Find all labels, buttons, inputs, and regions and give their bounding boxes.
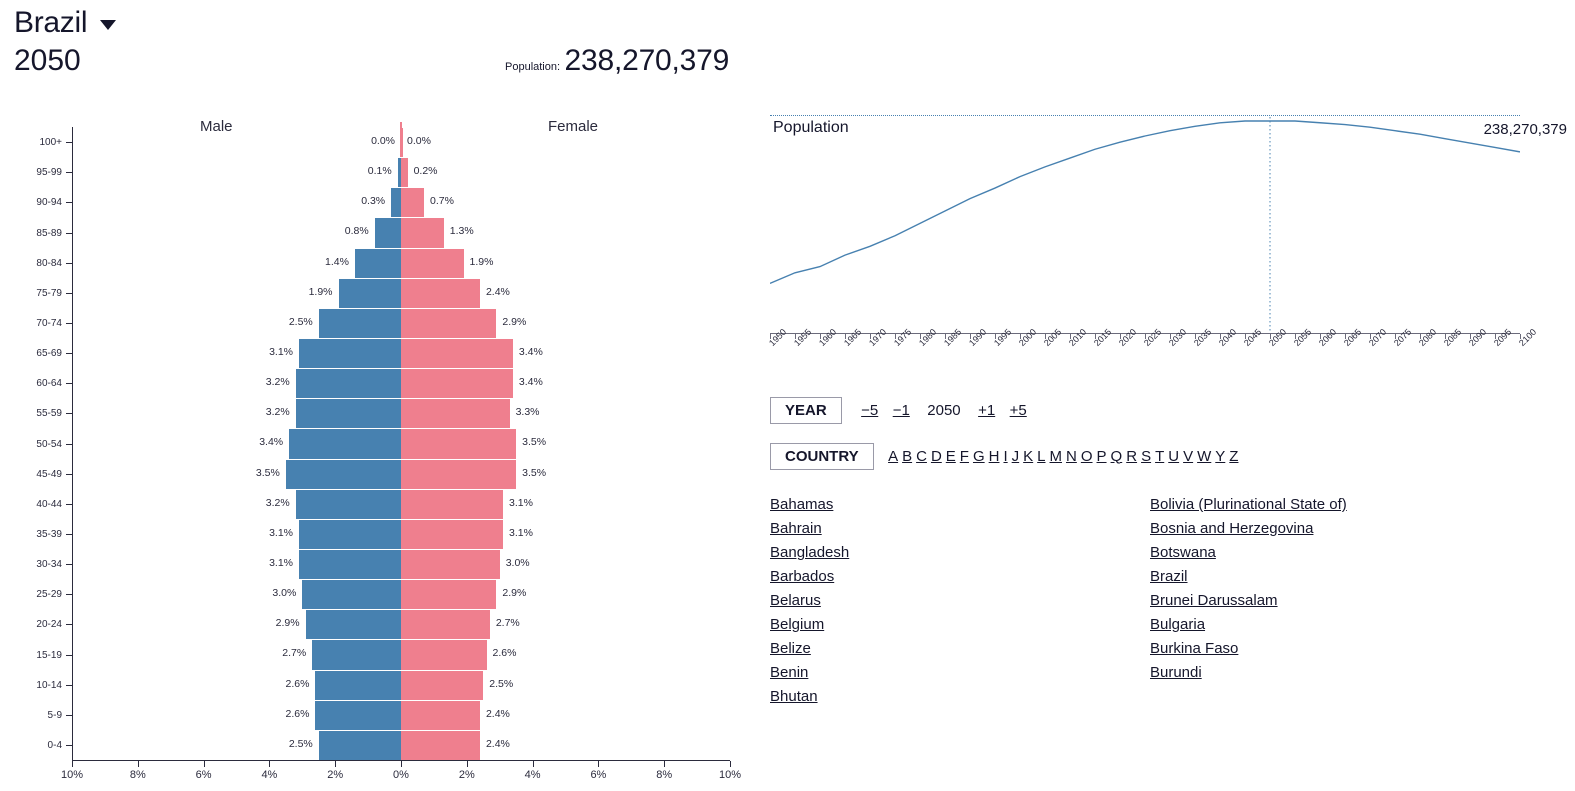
alphabet-link-z[interactable]: Z bbox=[1229, 448, 1238, 465]
country-title[interactable]: Brazil bbox=[14, 6, 87, 40]
country-link[interactable]: Bosnia and Herzegovina bbox=[1150, 517, 1530, 541]
pyramid-bar-female[interactable] bbox=[401, 700, 480, 730]
controls: YEAR −5 −1 2050 +1 +5 COUNTRY ABCDEFGHIJ… bbox=[770, 397, 1570, 489]
country-link[interactable]: Belgium bbox=[770, 613, 1150, 637]
pyramid-bar-male[interactable] bbox=[286, 459, 401, 489]
alphabet-link-c[interactable]: C bbox=[916, 448, 927, 465]
country-link[interactable]: Bulgaria bbox=[1150, 613, 1530, 637]
alphabet-link-k[interactable]: K bbox=[1023, 448, 1033, 465]
pyramid-female-value: 3.4% bbox=[519, 346, 543, 358]
pyramid-x-tick bbox=[401, 761, 402, 767]
alphabet-link-u[interactable]: U bbox=[1168, 448, 1179, 465]
pyramid-bar-female[interactable] bbox=[401, 308, 496, 338]
pyramid-female-value: 3.0% bbox=[506, 557, 530, 569]
alphabet-link-i[interactable]: I bbox=[1003, 448, 1007, 465]
pyramid-female-value: 0.0% bbox=[407, 135, 431, 147]
year-plus-1-link[interactable]: +1 bbox=[978, 402, 995, 419]
alphabet-link-f[interactable]: F bbox=[960, 448, 969, 465]
country-link[interactable]: Benin bbox=[770, 661, 1150, 685]
year-minus-5-link[interactable]: −5 bbox=[861, 402, 878, 419]
pyramid-age-label: 60-64 bbox=[0, 378, 62, 389]
pyramid-bar-male[interactable] bbox=[302, 579, 401, 609]
pyramid-bar-female[interactable] bbox=[401, 278, 480, 308]
pyramid-bar-male[interactable] bbox=[296, 368, 401, 398]
alphabet-link-v[interactable]: V bbox=[1183, 448, 1193, 465]
year-title: 2050 bbox=[14, 44, 81, 78]
pyramid-female-value: 1.9% bbox=[470, 256, 494, 268]
pyramid-male-value: 3.0% bbox=[272, 587, 296, 599]
pyramid-male-value: 2.7% bbox=[282, 647, 306, 659]
pyramid-x-tick bbox=[533, 761, 534, 767]
pyramid-row: 3.4%3.5% bbox=[72, 428, 730, 458]
alphabet-link-l[interactable]: L bbox=[1037, 448, 1045, 465]
alphabet-link-a[interactable]: A bbox=[888, 448, 898, 465]
alphabet-link-j[interactable]: J bbox=[1012, 448, 1020, 465]
pyramid-bar-female[interactable] bbox=[401, 639, 487, 669]
page-header: Brazil 2050 Population: 238,270,379 bbox=[0, 0, 1575, 105]
pyramid-male-value: 1.4% bbox=[325, 256, 349, 268]
country-link[interactable]: Bolivia (Plurinational State of) bbox=[1150, 493, 1530, 517]
pyramid-age-label: 50-54 bbox=[0, 439, 62, 450]
alphabet-link-g[interactable]: G bbox=[973, 448, 985, 465]
country-link[interactable]: Burkina Faso bbox=[1150, 637, 1530, 661]
country-link[interactable]: Bhutan bbox=[770, 685, 1150, 709]
pyramid-male-value: 1.9% bbox=[309, 286, 333, 298]
country-link[interactable]: Bahrain bbox=[770, 517, 1150, 541]
pyramid-female-value: 3.1% bbox=[509, 497, 533, 509]
pyramid-female-value: 3.5% bbox=[522, 436, 546, 448]
pyramid-male-value: 2.9% bbox=[276, 617, 300, 629]
pyramid-x-tick bbox=[730, 761, 731, 767]
pyramid-female-value: 3.3% bbox=[516, 406, 540, 418]
pyramid-male-value: 3.2% bbox=[266, 406, 290, 418]
pyramid-female-value: 2.4% bbox=[486, 738, 510, 750]
country-link[interactable]: Belarus bbox=[770, 589, 1150, 613]
pyramid-bar-male[interactable] bbox=[339, 278, 402, 308]
pyramid-age-label: 15-19 bbox=[0, 650, 62, 661]
pyramid-row: 3.5%3.5% bbox=[72, 459, 730, 489]
pyramid-age-label: 90-94 bbox=[0, 197, 62, 208]
pyramid-male-value: 2.5% bbox=[289, 738, 313, 750]
alphabet-links: ABCDEFGHIJKLMNOPQRSTUVWYZ bbox=[888, 448, 1242, 466]
pyramid-male-value: 3.2% bbox=[266, 497, 290, 509]
pyramid-x-tick bbox=[204, 761, 205, 767]
pyramid-bar-male[interactable] bbox=[296, 398, 401, 428]
pyramid-female-value: 3.1% bbox=[509, 527, 533, 539]
pyramid-age-label: 5-9 bbox=[0, 710, 62, 721]
pyramid-bar-male[interactable] bbox=[375, 217, 401, 247]
population-pyramid-chart: Male Female 0-45-910-1415-1920-2425-2930… bbox=[0, 105, 770, 791]
pyramid-bar-male[interactable] bbox=[299, 549, 401, 579]
alphabet-link-y[interactable]: Y bbox=[1215, 448, 1225, 465]
pyramid-x-label: 8% bbox=[644, 769, 684, 781]
pyramid-female-value: 0.2% bbox=[414, 165, 438, 177]
pyramid-bar-male[interactable] bbox=[296, 489, 401, 519]
pyramid-row: 2.6%2.4% bbox=[72, 700, 730, 730]
alphabet-link-t[interactable]: T bbox=[1155, 448, 1164, 465]
population-value: 238,270,379 bbox=[565, 44, 730, 77]
pyramid-male-value: 2.5% bbox=[289, 316, 313, 328]
alphabet-link-e[interactable]: E bbox=[946, 448, 956, 465]
pyramid-x-label: 2% bbox=[315, 769, 355, 781]
pyramid-female-value: 2.9% bbox=[502, 587, 526, 599]
pyramid-age-label: 10-14 bbox=[0, 680, 62, 691]
country-link[interactable]: Burundi bbox=[1150, 661, 1530, 685]
pyramid-age-label: 35-39 bbox=[0, 529, 62, 540]
pyramid-row: 2.5%2.9% bbox=[72, 308, 730, 338]
pyramid-row: 1.4%1.9% bbox=[72, 248, 730, 278]
line-chart-value-label: 238,270,379 bbox=[1484, 121, 1567, 138]
pyramid-x-label: 4% bbox=[249, 769, 289, 781]
pyramid-bar-female[interactable] bbox=[401, 459, 516, 489]
pyramid-age-label: 0-4 bbox=[0, 740, 62, 751]
pyramid-bar-male[interactable] bbox=[319, 730, 401, 760]
pyramid-bar-female[interactable] bbox=[401, 368, 513, 398]
pyramid-bar-female[interactable] bbox=[401, 187, 424, 217]
pyramid-female-value: 1.3% bbox=[450, 225, 474, 237]
pyramid-x-label: 6% bbox=[184, 769, 224, 781]
country-list-column-1: BahamasBahrainBangladeshBarbadosBelarusB… bbox=[770, 493, 1150, 709]
pyramid-bar-male[interactable] bbox=[355, 248, 401, 278]
pyramid-row: 2.6%2.5% bbox=[72, 670, 730, 700]
pyramid-male-value: 3.4% bbox=[259, 436, 283, 448]
line-chart-title: Population bbox=[773, 119, 849, 137]
pyramid-age-label: 20-24 bbox=[0, 619, 62, 630]
pyramid-x-tick bbox=[72, 761, 73, 767]
pyramid-row: 0.3%0.7% bbox=[72, 187, 730, 217]
population-line-svg bbox=[770, 115, 1520, 333]
pyramid-x-label: 10% bbox=[52, 769, 92, 781]
country-list: BahamasBahrainBangladeshBarbadosBelarusB… bbox=[770, 493, 1570, 709]
pyramid-bar-female[interactable] bbox=[401, 489, 503, 519]
pyramid-male-value: 0.8% bbox=[345, 225, 369, 237]
year-minus-1-link[interactable]: −1 bbox=[893, 402, 910, 419]
pyramid-male-value: 3.1% bbox=[269, 557, 293, 569]
pyramid-row: 0.1%0.2% bbox=[72, 157, 730, 187]
pyramid-male-value: 3.1% bbox=[269, 527, 293, 539]
right-panel: Population 238,270,379 19501955196019651… bbox=[765, 105, 1575, 791]
alphabet-link-d[interactable]: D bbox=[931, 448, 942, 465]
pyramid-age-label: 70-74 bbox=[0, 318, 62, 329]
alphabet-link-s[interactable]: S bbox=[1141, 448, 1151, 465]
pyramid-row: 2.9%2.7% bbox=[72, 609, 730, 639]
country-link[interactable]: Brunei Darussalam bbox=[1150, 589, 1530, 613]
pyramid-x-tick bbox=[598, 761, 599, 767]
pyramid-male-value: 0.1% bbox=[368, 165, 392, 177]
pyramid-x-tick bbox=[269, 761, 270, 767]
pyramid-female-value: 2.9% bbox=[502, 316, 526, 328]
pyramid-bar-female[interactable] bbox=[401, 519, 503, 549]
pyramid-age-label: 80-84 bbox=[0, 258, 62, 269]
country-list-column-2: Bolivia (Plurinational State of)Bosnia a… bbox=[1150, 493, 1530, 709]
alphabet-link-m[interactable]: M bbox=[1050, 448, 1063, 465]
pyramid-bar-female[interactable] bbox=[401, 157, 408, 187]
population-label: Population: bbox=[505, 61, 560, 73]
pyramid-bar-female[interactable] bbox=[401, 217, 444, 247]
alphabet-link-q[interactable]: Q bbox=[1111, 448, 1123, 465]
year-control-row: YEAR −5 −1 2050 +1 +5 bbox=[770, 397, 1570, 429]
pyramid-bar-male[interactable] bbox=[391, 187, 401, 217]
pyramid-bar-male[interactable] bbox=[315, 670, 401, 700]
pyramid-x-label: 8% bbox=[118, 769, 158, 781]
population-line-chart bbox=[770, 115, 1520, 340]
pyramid-plot-area: 2.5%2.4%2.6%2.4%2.6%2.5%2.7%2.6%2.9%2.7%… bbox=[72, 127, 730, 760]
pyramid-x-tick bbox=[138, 761, 139, 767]
pyramid-row: 0.8%1.3% bbox=[72, 217, 730, 247]
pyramid-center-line bbox=[400, 122, 402, 157]
pyramid-bar-male[interactable] bbox=[306, 609, 401, 639]
pyramid-age-label: 65-69 bbox=[0, 348, 62, 359]
pyramid-bar-female[interactable] bbox=[401, 579, 496, 609]
pyramid-bar-female[interactable] bbox=[401, 338, 513, 368]
pyramid-female-value: 3.4% bbox=[519, 376, 543, 388]
pyramid-age-label: 55-59 bbox=[0, 408, 62, 419]
alphabet-link-p[interactable]: P bbox=[1097, 448, 1107, 465]
pyramid-row: 3.2%3.1% bbox=[72, 489, 730, 519]
pyramid-bar-female[interactable] bbox=[401, 730, 480, 760]
pyramid-x-label: 0% bbox=[381, 769, 421, 781]
pyramid-row: 3.1%3.1% bbox=[72, 519, 730, 549]
pyramid-x-tick bbox=[664, 761, 665, 767]
pyramid-male-value: 3.2% bbox=[266, 376, 290, 388]
alphabet-link-n[interactable]: N bbox=[1066, 448, 1077, 465]
pyramid-female-value: 3.5% bbox=[522, 467, 546, 479]
pyramid-bar-male[interactable] bbox=[289, 428, 401, 458]
country-link[interactable]: Bangladesh bbox=[770, 541, 1150, 565]
pyramid-age-label: 25-29 bbox=[0, 589, 62, 600]
pyramid-bar-male[interactable] bbox=[312, 639, 401, 669]
pyramid-female-value: 2.6% bbox=[493, 647, 517, 659]
pyramid-bar-female[interactable] bbox=[401, 428, 516, 458]
pyramid-row: 3.1%3.0% bbox=[72, 549, 730, 579]
pyramid-female-value: 0.7% bbox=[430, 195, 454, 207]
pyramid-age-label: 45-49 bbox=[0, 469, 62, 480]
population-readout: Population: 238,270,379 bbox=[505, 44, 729, 78]
pyramid-age-label: 85-89 bbox=[0, 228, 62, 239]
year-links: −5 −1 2050 +1 +5 bbox=[856, 402, 1032, 420]
pyramid-bar-female[interactable] bbox=[401, 670, 483, 700]
pyramid-male-value: 2.6% bbox=[286, 678, 310, 690]
pyramid-x-label: 10% bbox=[710, 769, 750, 781]
country-link[interactable]: Barbados bbox=[770, 565, 1150, 589]
pyramid-age-label: 95-99 bbox=[0, 167, 62, 178]
alphabet-link-o[interactable]: O bbox=[1081, 448, 1093, 465]
pyramid-female-value: 2.4% bbox=[486, 708, 510, 720]
pyramid-female-value: 2.5% bbox=[489, 678, 513, 690]
pyramid-bar-male[interactable] bbox=[299, 519, 401, 549]
pyramid-row: 1.9%2.4% bbox=[72, 278, 730, 308]
pyramid-age-label: 40-44 bbox=[0, 499, 62, 510]
pyramid-x-label: 4% bbox=[513, 769, 553, 781]
year-plus-5-link[interactable]: +5 bbox=[1010, 402, 1027, 419]
country-link[interactable]: Bahamas bbox=[770, 493, 1150, 517]
year-current-value: 2050 bbox=[927, 402, 960, 419]
pyramid-row: 3.0%2.9% bbox=[72, 579, 730, 609]
pyramid-row: 2.7%2.6% bbox=[72, 639, 730, 669]
pyramid-male-value: 0.3% bbox=[361, 195, 385, 207]
pyramid-male-value: 3.5% bbox=[256, 467, 280, 479]
alphabet-link-h[interactable]: H bbox=[989, 448, 1000, 465]
population-line-path bbox=[770, 121, 1520, 283]
pyramid-bar-female[interactable] bbox=[401, 549, 500, 579]
chevron-down-icon[interactable] bbox=[100, 20, 116, 30]
pyramid-bar-female[interactable] bbox=[401, 398, 510, 428]
pyramid-bar-male[interactable] bbox=[315, 700, 401, 730]
pyramid-row: 2.5%2.4% bbox=[72, 730, 730, 760]
pyramid-age-label: 100+ bbox=[0, 137, 62, 148]
pyramid-age-label: 30-34 bbox=[0, 559, 62, 570]
year-button[interactable]: YEAR bbox=[770, 397, 842, 424]
pyramid-row: 3.1%3.4% bbox=[72, 338, 730, 368]
country-button[interactable]: COUNTRY bbox=[770, 443, 874, 470]
pyramid-bar-male[interactable] bbox=[319, 308, 401, 338]
year-tick-label: 2100 bbox=[1517, 327, 1538, 348]
pyramid-bar-female[interactable] bbox=[401, 609, 490, 639]
alphabet-link-w[interactable]: W bbox=[1197, 448, 1211, 465]
pyramid-bar-male[interactable] bbox=[299, 338, 401, 368]
pyramid-male-value: 0.0% bbox=[371, 135, 395, 147]
alphabet-link-r[interactable]: R bbox=[1126, 448, 1137, 465]
pyramid-female-value: 2.7% bbox=[496, 617, 520, 629]
country-link[interactable]: Belize bbox=[770, 637, 1150, 661]
country-link[interactable]: Botswana bbox=[1150, 541, 1530, 565]
country-control-row: COUNTRY ABCDEFGHIJKLMNOPQRSTUVWYZ bbox=[770, 443, 1570, 475]
pyramid-male-value: 2.6% bbox=[286, 708, 310, 720]
pyramid-male-value: 3.1% bbox=[269, 346, 293, 358]
pyramid-bar-female[interactable] bbox=[401, 248, 464, 278]
pyramid-x-label: 6% bbox=[578, 769, 618, 781]
pyramid-x-label: 2% bbox=[447, 769, 487, 781]
pyramid-x-tick bbox=[335, 761, 336, 767]
pyramid-row: 3.2%3.3% bbox=[72, 398, 730, 428]
pyramid-female-value: 2.4% bbox=[486, 286, 510, 298]
pyramid-age-label: 75-79 bbox=[0, 288, 62, 299]
country-link[interactable]: Brazil bbox=[1150, 565, 1530, 589]
pyramid-x-tick bbox=[467, 761, 468, 767]
pyramid-row: 3.2%3.4% bbox=[72, 368, 730, 398]
alphabet-link-b[interactable]: B bbox=[902, 448, 912, 465]
